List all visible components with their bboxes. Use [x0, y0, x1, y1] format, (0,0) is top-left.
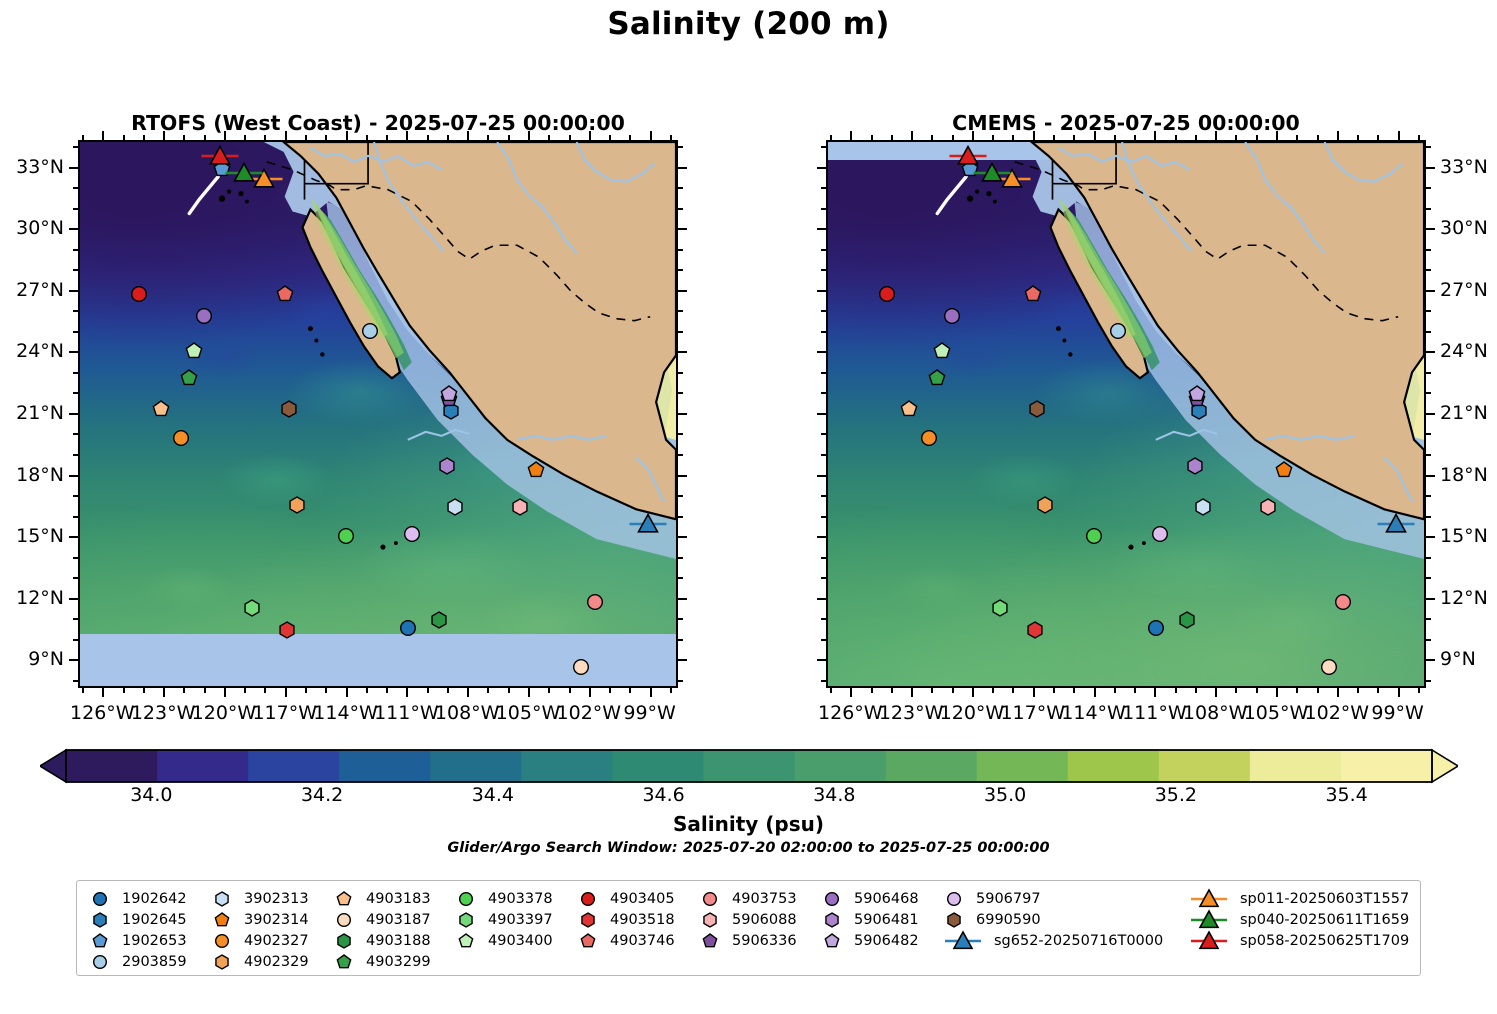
- platform-marker-4903183[interactable]: [898, 398, 920, 420]
- x-minor-tick: [204, 688, 206, 693]
- y-axis-label: 15°N: [16, 525, 64, 547]
- legend-label: 3902313: [244, 891, 309, 907]
- legend-column-6: 590646859064815906482: [819, 888, 919, 951]
- y-axis-label: 27°N: [1440, 279, 1488, 301]
- legend-label: 4903518: [610, 912, 675, 928]
- search-window-note: Glider/Argo Search Window: 2025-07-20 02…: [0, 840, 1497, 856]
- y-minor-tick: [73, 454, 78, 456]
- legend-entry-1902642[interactable]: 1902642: [87, 888, 187, 909]
- x-tick-top: [1033, 131, 1035, 140]
- legend-marker-hexagon-icon: [819, 910, 845, 930]
- platform-marker-3902314[interactable]: [1273, 459, 1295, 481]
- x-tick-top: [1337, 131, 1339, 140]
- x-tick-top: [1154, 131, 1156, 140]
- platform-marker-4903518[interactable]: [1024, 619, 1046, 641]
- platform-marker-5906468[interactable]: [941, 305, 963, 327]
- y-minor-tick: [678, 269, 683, 271]
- x-minor-tick: [871, 688, 873, 693]
- y-tick: [1426, 351, 1435, 353]
- legend-marker-circle-icon: [697, 889, 723, 909]
- x-minor-tick: [386, 135, 388, 140]
- y-tick: [678, 413, 687, 415]
- platform-marker-4903753[interactable]: [1332, 591, 1354, 613]
- legend-entry-4903753[interactable]: 4903753: [697, 888, 797, 909]
- legend-entry-4903397[interactable]: 4903397: [453, 909, 553, 930]
- x-minor-tick: [830, 688, 832, 693]
- x-tick: [1276, 688, 1278, 697]
- colorbar-tick-label: 34.4: [472, 784, 514, 806]
- x-minor-tick: [1175, 688, 1177, 693]
- y-tick: [678, 228, 687, 230]
- y-minor-tick: [73, 639, 78, 641]
- legend-entry-5906336[interactable]: 5906336: [697, 930, 797, 951]
- legend-marker-hexagon-icon: [453, 910, 479, 930]
- x-minor-tick: [244, 135, 246, 140]
- legend-column-2: 4903183490318749031884903299: [331, 888, 431, 972]
- y-tick: [1426, 228, 1435, 230]
- x-tick-top: [528, 131, 530, 140]
- x-tick: [1033, 688, 1035, 697]
- y-minor-tick: [1426, 495, 1431, 497]
- x-axis-label: 102°W: [1305, 702, 1370, 724]
- x-axis-label: 120°W: [940, 702, 1005, 724]
- legend-label: 4903400: [488, 933, 553, 949]
- legend-entry-4903188[interactable]: 4903188: [331, 930, 431, 951]
- y-minor-tick: [73, 516, 78, 518]
- x-minor-tick: [1377, 135, 1379, 140]
- legend-label: 1902642: [122, 891, 187, 907]
- x-tick-top: [589, 131, 591, 140]
- x-tick: [589, 688, 591, 697]
- legend-entry-5906797[interactable]: 5906797: [941, 888, 1163, 909]
- legend-entry-4903518[interactable]: 4903518: [575, 909, 675, 930]
- map-canvas-rtofs[interactable]: [78, 140, 678, 688]
- y-minor-tick: [821, 516, 826, 518]
- y-axis-label: 33°N: [16, 156, 64, 178]
- y-tick: [69, 167, 78, 169]
- legend-marker-pentagon-icon: [331, 889, 357, 909]
- x-tick: [528, 688, 530, 697]
- y-minor-tick: [678, 310, 683, 312]
- legend-marker-circle-icon: [331, 910, 357, 930]
- legend-marker-circle-icon: [209, 931, 235, 951]
- x-minor-tick: [1317, 688, 1319, 693]
- x-tick-top: [1215, 131, 1217, 140]
- x-axis-label: 126°W: [70, 702, 135, 724]
- y-minor-tick: [1426, 577, 1431, 579]
- y-tick: [1426, 290, 1435, 292]
- y-minor-tick: [821, 639, 826, 641]
- legend-marker-hexagon-icon: [209, 952, 235, 972]
- x-minor-tick: [123, 135, 125, 140]
- x-minor-tick: [1195, 688, 1197, 693]
- legend-column-5: 490375359060885906336: [697, 888, 797, 951]
- y-minor-tick: [1426, 146, 1431, 148]
- y-minor-tick: [678, 433, 683, 435]
- legend-label: 4903405: [610, 891, 675, 907]
- x-minor-tick: [447, 688, 449, 693]
- x-tick-top: [850, 131, 852, 140]
- y-minor-tick: [73, 249, 78, 251]
- x-tick: [911, 688, 913, 697]
- platform-marker-4902329[interactable]: [1034, 494, 1056, 516]
- x-minor-tick: [264, 135, 266, 140]
- x-tick: [1094, 688, 1096, 697]
- colorbar-tick-label: 35.4: [1325, 784, 1367, 806]
- x-minor-tick: [670, 688, 672, 693]
- legend-entry-5906482[interactable]: 5906482: [819, 930, 919, 951]
- legend-marker-hexagon-icon: [209, 889, 235, 909]
- x-minor-tick: [1418, 135, 1420, 140]
- x-minor-tick: [204, 135, 206, 140]
- x-tick-top: [1276, 131, 1278, 140]
- x-minor-tick: [508, 688, 510, 693]
- legend-entry-sp011-20250603T1557[interactable]: sp011-20250603T1557: [1187, 888, 1409, 909]
- y-tick: [69, 598, 78, 600]
- y-minor-tick: [73, 495, 78, 497]
- y-minor-tick: [1426, 557, 1431, 559]
- legend-label: sg652-20250716T0000: [994, 933, 1163, 949]
- x-minor-tick: [447, 135, 449, 140]
- legend-marker-pentagon-icon: [697, 931, 723, 951]
- legend-column-3: 490337849033974903400: [453, 888, 553, 951]
- x-minor-tick: [1134, 135, 1136, 140]
- y-minor-tick: [73, 208, 78, 210]
- x-minor-tick: [1195, 135, 1197, 140]
- x-minor-tick: [548, 688, 550, 693]
- x-minor-tick: [569, 135, 571, 140]
- legend-label: 4902329: [244, 954, 309, 970]
- legend-marker-hexagon-icon: [575, 910, 601, 930]
- y-minor-tick: [821, 618, 826, 620]
- x-minor-tick: [891, 135, 893, 140]
- x-tick: [850, 688, 852, 697]
- x-minor-tick: [1073, 135, 1075, 140]
- y-minor-tick: [73, 331, 78, 333]
- legend-label: 4903299: [366, 954, 431, 970]
- x-minor-tick: [670, 135, 672, 140]
- platform-marker-5906797[interactable]: [1149, 523, 1171, 545]
- y-tick: [817, 351, 826, 353]
- legend-entry-4903405[interactable]: 4903405: [575, 888, 675, 909]
- legend-entry-1902653[interactable]: 1902653: [87, 930, 187, 951]
- legend-marker-circle-icon: [575, 889, 601, 909]
- x-tick: [163, 688, 165, 697]
- x-minor-tick: [548, 135, 550, 140]
- legend-entry-5906468[interactable]: 5906468: [819, 888, 919, 909]
- colorbar: 34.034.234.434.634.835.035.235.4: [40, 748, 1458, 784]
- x-tick: [467, 688, 469, 697]
- x-minor-tick: [244, 688, 246, 693]
- y-axis-label: 24°N: [16, 340, 64, 362]
- x-minor-tick: [931, 135, 933, 140]
- x-minor-tick: [82, 135, 84, 140]
- x-minor-tick: [1012, 688, 1014, 693]
- legend-entry-sp058-20250625T1709[interactable]: sp058-20250625T1709: [1187, 930, 1409, 951]
- legend-entry-4903299[interactable]: 4903299: [331, 951, 431, 972]
- legend-column-8: sp011-20250603T1557sp040-20250611T1659sp…: [1187, 888, 1409, 951]
- y-minor-tick: [821, 495, 826, 497]
- x-tick: [650, 688, 652, 697]
- legend-label: 5906468: [854, 891, 919, 907]
- y-axis-label: 30°N: [1440, 217, 1488, 239]
- legend-marker-hexagon-icon: [87, 910, 113, 930]
- y-tick: [69, 475, 78, 477]
- platform-marker-4903378[interactable]: [1083, 525, 1105, 547]
- x-minor-tick: [427, 135, 429, 140]
- y-minor-tick: [678, 208, 683, 210]
- y-tick: [69, 536, 78, 538]
- legend-entry-1902645[interactable]: 1902645: [87, 909, 187, 930]
- platform-legend[interactable]: 1902642190264519026532903859390231339023…: [76, 880, 1421, 976]
- y-minor-tick: [678, 146, 683, 148]
- platform-marker-sg652-20250716T0000[interactable]: [1374, 511, 1417, 536]
- y-minor-tick: [678, 187, 683, 189]
- y-minor-tick: [73, 618, 78, 620]
- y-tick: [678, 659, 687, 661]
- legend-marker-triangle-line-icon: [1187, 929, 1231, 953]
- y-minor-tick: [678, 454, 683, 456]
- platform-marker-sp058-20250625T1709[interactable]: [946, 144, 989, 169]
- y-tick: [678, 475, 687, 477]
- x-tick: [1154, 688, 1156, 697]
- y-minor-tick: [1426, 208, 1431, 210]
- x-axis-label: 114°W: [1061, 702, 1126, 724]
- y-minor-tick: [678, 516, 683, 518]
- x-minor-tick: [264, 688, 266, 693]
- y-minor-tick: [821, 331, 826, 333]
- legend-label: 5906088: [732, 912, 797, 928]
- platform-marker-4903188[interactable]: [1176, 609, 1198, 631]
- legend-entry-sp040-20250611T1659[interactable]: sp040-20250611T1659: [1187, 909, 1409, 930]
- y-minor-tick: [678, 392, 683, 394]
- legend-entry-3902314[interactable]: 3902314: [209, 909, 309, 930]
- platform-marker-4903405[interactable]: [876, 283, 898, 305]
- x-tick: [1337, 688, 1339, 697]
- legend-entry-4903378[interactable]: 4903378: [453, 888, 553, 909]
- x-minor-tick: [1114, 688, 1116, 693]
- legend-label: 5906481: [854, 912, 919, 928]
- x-tick-top: [224, 131, 226, 140]
- y-minor-tick: [1426, 331, 1431, 333]
- y-axis-label: 15°N: [1440, 525, 1488, 547]
- platform-marker-5906088[interactable]: [1257, 496, 1279, 518]
- y-axis-label: 12°N: [1440, 587, 1488, 609]
- x-minor-tick: [325, 135, 327, 140]
- y-tick: [69, 351, 78, 353]
- legend-label: 4903183: [366, 891, 431, 907]
- platform-marker-6990590[interactable]: [1026, 398, 1048, 420]
- x-minor-tick: [609, 688, 611, 693]
- platform-marker-5906481[interactable]: [1184, 455, 1206, 477]
- legend-entry-2903859[interactable]: 2903859: [87, 951, 187, 972]
- y-tick: [817, 598, 826, 600]
- y-minor-tick: [1426, 454, 1431, 456]
- legend-entry-sg652-20250716T0000[interactable]: sg652-20250716T0000: [941, 930, 1163, 951]
- x-minor-tick: [183, 688, 185, 693]
- legend-label: 4903188: [366, 933, 431, 949]
- y-minor-tick: [678, 639, 683, 641]
- x-tick-top: [346, 131, 348, 140]
- platform-marker-4902327[interactable]: [918, 427, 940, 449]
- x-tick-top: [102, 131, 104, 140]
- legend-label: 4903397: [488, 912, 553, 928]
- x-minor-tick: [830, 135, 832, 140]
- x-axis-label: 111°W: [374, 702, 439, 724]
- y-tick: [1426, 536, 1435, 538]
- y-tick: [678, 167, 687, 169]
- x-tick: [102, 688, 104, 697]
- legend-label: 4903746: [610, 933, 675, 949]
- legend-label: 4903753: [732, 891, 797, 907]
- y-minor-tick: [678, 249, 683, 251]
- x-minor-tick: [992, 688, 994, 693]
- y-tick: [817, 290, 826, 292]
- x-minor-tick: [305, 135, 307, 140]
- platform-marker-4903400[interactable]: [931, 340, 953, 362]
- platform-marker-4903299[interactable]: [926, 367, 948, 389]
- x-tick: [1398, 688, 1400, 697]
- legend-entry-4903400[interactable]: 4903400: [453, 930, 553, 951]
- legend-marker-pentagon-icon: [575, 931, 601, 951]
- y-minor-tick: [1426, 618, 1431, 620]
- legend-label: sp011-20250603T1557: [1240, 891, 1409, 907]
- x-tick: [406, 688, 408, 697]
- y-minor-tick: [678, 557, 683, 559]
- legend-marker-pentagon-icon: [819, 931, 845, 951]
- y-tick: [678, 536, 687, 538]
- legend-marker-circle-icon: [819, 889, 845, 909]
- legend-column-1: 3902313390231449023274902329: [209, 888, 309, 972]
- y-axis-label: 24°N: [1440, 340, 1488, 362]
- y-minor-tick: [1426, 680, 1431, 682]
- platform-marker-4903746[interactable]: [1022, 283, 1044, 305]
- x-axis-label: 123°W: [879, 702, 944, 724]
- legend-marker-pentagon-icon: [209, 910, 235, 930]
- y-tick: [69, 228, 78, 230]
- x-minor-tick: [82, 688, 84, 693]
- y-tick: [1426, 167, 1435, 169]
- y-axis-label: 27°N: [16, 279, 64, 301]
- legend-entry-4903187[interactable]: 4903187: [331, 909, 431, 930]
- x-minor-tick: [629, 688, 631, 693]
- x-minor-tick: [1317, 135, 1319, 140]
- x-minor-tick: [992, 135, 994, 140]
- y-minor-tick: [678, 331, 683, 333]
- x-axis-label: 117°W: [252, 702, 317, 724]
- legend-marker-circle-icon: [87, 889, 113, 909]
- x-minor-tick: [1073, 688, 1075, 693]
- y-minor-tick: [678, 372, 683, 374]
- y-minor-tick: [1426, 639, 1431, 641]
- y-minor-tick: [73, 310, 78, 312]
- legend-entry-5906481[interactable]: 5906481: [819, 909, 919, 930]
- y-minor-tick: [821, 310, 826, 312]
- page-title: Salinity (200 m): [0, 6, 1497, 42]
- y-minor-tick: [1426, 249, 1431, 251]
- x-minor-tick: [366, 688, 368, 693]
- platform-marker-1902642[interactable]: [1145, 617, 1167, 639]
- x-tick: [285, 688, 287, 697]
- x-minor-tick: [1418, 688, 1420, 693]
- legend-label: 5906797: [976, 891, 1041, 907]
- map-panel-rtofs: RTOFS (West Coast) - 2025-07-25 00:00:00: [78, 140, 678, 688]
- legend-marker-circle-icon: [87, 952, 113, 972]
- legend-label: 3902314: [244, 912, 309, 928]
- x-tick-top: [1398, 131, 1400, 140]
- y-minor-tick: [821, 208, 826, 210]
- legend-entry-6990590[interactable]: 6990590: [941, 909, 1163, 930]
- legend-label: 4903187: [366, 912, 431, 928]
- y-minor-tick: [821, 557, 826, 559]
- platform-marker-4903397[interactable]: [989, 597, 1011, 619]
- colorbar-tick-label: 34.2: [301, 784, 343, 806]
- x-minor-tick: [183, 135, 185, 140]
- x-minor-tick: [1256, 135, 1258, 140]
- colorbar-tick-label: 35.0: [984, 784, 1026, 806]
- x-minor-tick: [1235, 688, 1237, 693]
- x-minor-tick: [569, 688, 571, 693]
- x-minor-tick: [871, 135, 873, 140]
- legend-column-0: 1902642190264519026532903859: [87, 888, 187, 972]
- y-minor-tick: [73, 187, 78, 189]
- x-minor-tick: [931, 688, 933, 693]
- x-axis-label: 117°W: [1000, 702, 1065, 724]
- legend-entry-4902329[interactable]: 4902329: [209, 951, 309, 972]
- y-minor-tick: [73, 392, 78, 394]
- legend-entry-4903746[interactable]: 4903746: [575, 930, 675, 951]
- y-minor-tick: [821, 269, 826, 271]
- y-minor-tick: [73, 269, 78, 271]
- y-minor-tick: [678, 495, 683, 497]
- x-tick-top: [163, 131, 165, 140]
- legend-entry-4903183[interactable]: 4903183: [331, 888, 431, 909]
- map-canvas-cmems[interactable]: [826, 140, 1426, 688]
- platform-marker-2903859[interactable]: [1107, 320, 1129, 342]
- legend-marker-hexagon-icon: [941, 910, 967, 930]
- x-minor-tick: [143, 135, 145, 140]
- x-minor-tick: [1053, 135, 1055, 140]
- x-minor-tick: [1296, 135, 1298, 140]
- map-panel-cmems: CMEMS - 2025-07-25 00:00:00: [826, 140, 1426, 688]
- platform-marker-3902313[interactable]: [1192, 496, 1214, 518]
- x-axis-label: 126°W: [818, 702, 883, 724]
- x-tick-top: [911, 131, 913, 140]
- x-minor-tick: [629, 135, 631, 140]
- x-axis-label: 102°W: [557, 702, 622, 724]
- legend-label: 2903859: [122, 954, 187, 970]
- x-minor-tick: [123, 688, 125, 693]
- legend-entry-4902327[interactable]: 4902327: [209, 930, 309, 951]
- colorbar-tick-label: 34.6: [642, 784, 684, 806]
- y-axis-label: 9°N: [28, 648, 64, 670]
- platform-marker-5906482[interactable]: [1186, 383, 1208, 405]
- legend-entry-3902313[interactable]: 3902313: [209, 888, 309, 909]
- legend-marker-triangle-line-icon: [941, 929, 985, 953]
- x-tick-top: [467, 131, 469, 140]
- x-tick: [1215, 688, 1217, 697]
- legend-label: sp040-20250611T1659: [1240, 912, 1409, 928]
- legend-label: 1902653: [122, 933, 187, 949]
- x-axis-label: 105°W: [496, 702, 561, 724]
- y-axis-label: 33°N: [1440, 156, 1488, 178]
- x-minor-tick: [508, 135, 510, 140]
- y-minor-tick: [821, 249, 826, 251]
- legend-label: 5906336: [732, 933, 797, 949]
- x-axis-label: 114°W: [313, 702, 378, 724]
- platform-marker-4903187[interactable]: [1318, 656, 1340, 678]
- legend-entry-5906088[interactable]: 5906088: [697, 909, 797, 930]
